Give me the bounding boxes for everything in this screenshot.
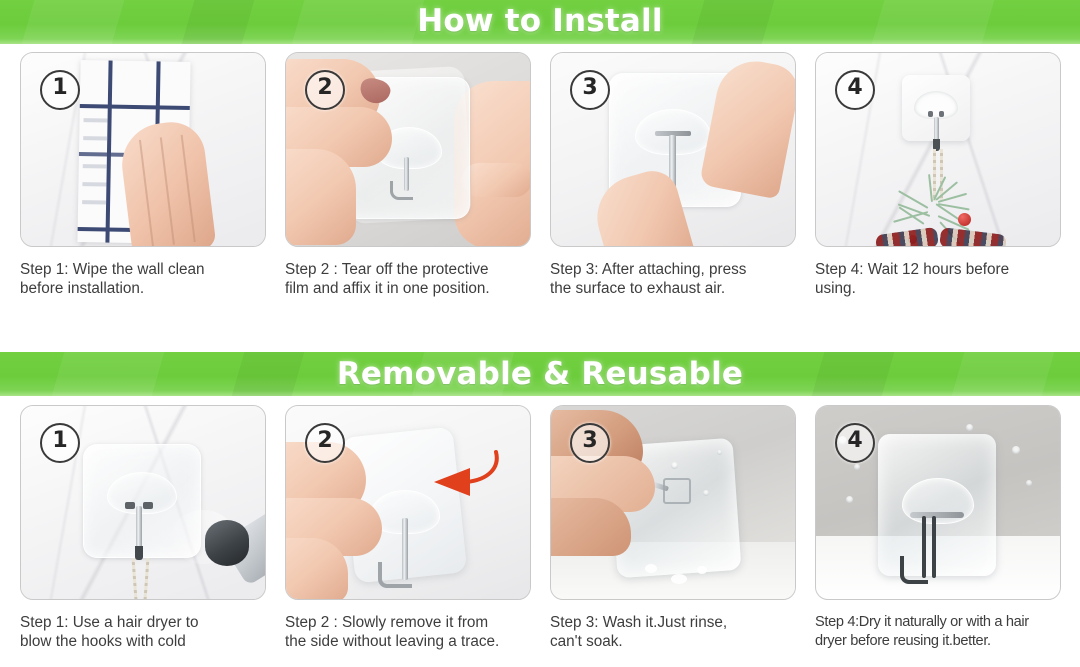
water-droplet bbox=[671, 462, 678, 469]
step-caption-reuse-1: Step 1: Use a hair dryer to blow the hoo… bbox=[20, 613, 266, 651]
step-caption-reuse-2: Step 2 : Slowly remove it from the side … bbox=[285, 613, 531, 651]
water-splash bbox=[697, 566, 707, 574]
water-droplet bbox=[1026, 480, 1032, 486]
plaid-ribbon bbox=[939, 227, 1007, 247]
step-card-reuse-1: 1 Step 1: Use a hair dryer to blow the h… bbox=[20, 405, 266, 651]
step-card-install-2: 2 Step 2 : Tear off the protective film … bbox=[285, 52, 531, 298]
step-photo-hair-dryer: 1 bbox=[20, 405, 266, 600]
step-badge-1: 1 bbox=[40, 70, 80, 110]
pine-wreath bbox=[878, 193, 1002, 247]
plaid-ribbon bbox=[875, 227, 939, 247]
step-photo-wiping-wall: 1 bbox=[20, 52, 266, 247]
step-photo-washing-hook: 3 bbox=[550, 405, 796, 600]
step-card-install-4: 4 Step 4: Wait 12 hours before using. bbox=[815, 52, 1061, 298]
hook-tip bbox=[135, 546, 143, 560]
step-badge-2: 2 bbox=[305, 423, 345, 463]
step-caption-install-1: Step 1: Wipe the wall clean before insta… bbox=[20, 260, 266, 298]
step-photo-drying-hook: 4 bbox=[815, 405, 1061, 600]
cloud-emblem bbox=[914, 91, 958, 119]
step-photo-hook-with-wreath: 4 bbox=[815, 52, 1061, 247]
step-photo-pressing-hook: 3 bbox=[550, 52, 796, 247]
step-card-reuse-3: 3 Step 3: Wash it.Just rinse, can't soak… bbox=[550, 405, 796, 651]
step-card-install-1: 1 Step 1: Wipe the wall clean before ins… bbox=[20, 52, 266, 298]
step-caption-install-4: Step 4: Wait 12 hours before using. bbox=[815, 260, 1061, 298]
arrow-icon-wrapper bbox=[404, 442, 504, 502]
banner-title-reusable: Removable & Reusable bbox=[0, 355, 1080, 393]
water-droplet bbox=[717, 450, 722, 455]
step-photo-removing-hook: 2 bbox=[285, 405, 531, 600]
step-card-reuse-2: 2 Step 2 : Slowly remove it from the sid… bbox=[285, 405, 531, 651]
step-badge-4: 4 bbox=[835, 70, 875, 110]
banner-how-to-install: How to Install bbox=[0, 0, 1080, 44]
hook-curve bbox=[900, 556, 928, 584]
step-caption-reuse-3: Step 3: Wash it.Just rinse, can't soak. bbox=[550, 613, 796, 651]
water-splash bbox=[645, 564, 657, 573]
water-droplet bbox=[966, 424, 973, 431]
hair-dryer-nozzle bbox=[205, 520, 249, 566]
lower-fingers bbox=[550, 498, 631, 556]
water-droplet bbox=[854, 464, 860, 470]
step-badge-3: 3 bbox=[570, 70, 610, 110]
step-badge-2: 2 bbox=[305, 70, 345, 110]
curved-left-arrow-icon bbox=[404, 442, 504, 502]
hook-bracket bbox=[663, 478, 691, 504]
lower-fingers bbox=[285, 149, 356, 245]
hook-curve bbox=[378, 562, 412, 588]
step-badge-3: 3 bbox=[570, 423, 610, 463]
cloud-emblem bbox=[107, 472, 177, 514]
water-droplet bbox=[846, 496, 853, 503]
step-badge-4: 4 bbox=[835, 423, 875, 463]
step-caption-reuse-4: Step 4:Dry it naturally or with a hair d… bbox=[815, 613, 1061, 651]
step-card-reuse-4: 4 Step 4:Dry it naturally or with a hair… bbox=[815, 405, 1061, 651]
water-droplet bbox=[703, 490, 709, 496]
banner-removable-reusable: Removable & Reusable bbox=[0, 352, 1080, 396]
step-caption-install-2: Step 2 : Tear off the protective film an… bbox=[285, 260, 531, 298]
hook-curve bbox=[390, 181, 413, 200]
step-card-install-3: 3 Step 3: After attaching, press the sur… bbox=[550, 52, 796, 298]
water-splash bbox=[671, 574, 687, 584]
infographic-page: How to Install bbox=[0, 0, 1080, 667]
red-berry bbox=[958, 213, 971, 226]
step-photo-peeling-film: 2 bbox=[285, 52, 531, 247]
step-badge-1: 1 bbox=[40, 423, 80, 463]
banner-title-install: How to Install bbox=[0, 2, 1080, 40]
hook-bracket bbox=[910, 512, 964, 518]
water-droplet bbox=[1012, 446, 1020, 454]
step-caption-install-3: Step 3: After attaching, press the surfa… bbox=[550, 260, 796, 298]
right-thumb bbox=[462, 163, 531, 197]
hook-stem bbox=[932, 516, 936, 578]
hook-stem bbox=[136, 506, 142, 550]
